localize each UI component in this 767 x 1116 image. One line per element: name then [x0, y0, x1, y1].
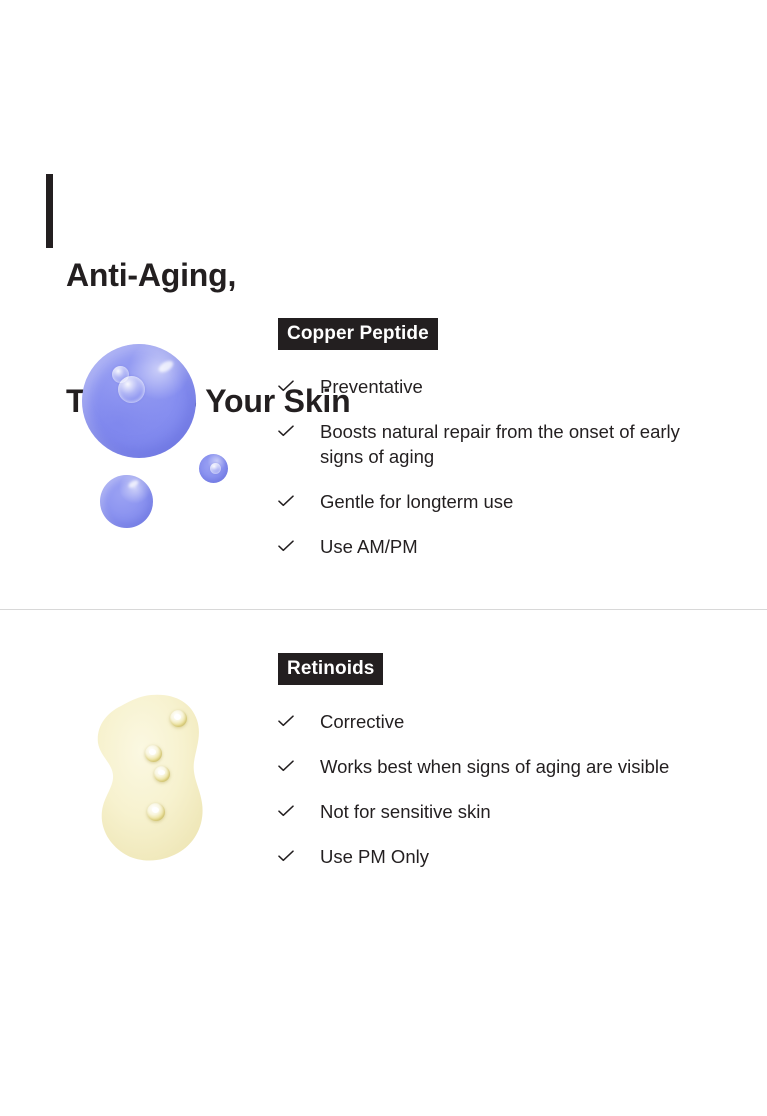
serum-bead-4 — [147, 803, 165, 821]
title-accent-bar — [46, 174, 53, 248]
list-item-label: Gentle for longterm use — [320, 489, 513, 514]
section-copper-peptide: Copper Peptide Preventative — [0, 318, 767, 600]
droplet-bubble-b — [118, 376, 145, 403]
title-line-1: Anti-Aging, — [66, 254, 350, 296]
yellow-serum-blob-icon — [90, 693, 220, 873]
check-icon — [278, 754, 294, 778]
droplet-large — [82, 344, 196, 458]
section-retinoids: Retinoids Corrective — [0, 653, 767, 935]
list-item: Gentle for longterm use — [278, 489, 708, 514]
list-item-label: Works best when signs of aging are visib… — [320, 754, 669, 779]
serum-bead-3 — [154, 766, 170, 782]
retinoids-feature-list: Corrective Works best when signs of agin… — [278, 709, 708, 869]
list-item: Use AM/PM — [278, 534, 708, 559]
list-item-label: Use AM/PM — [320, 534, 418, 559]
retinoids-content: Retinoids Corrective — [278, 653, 708, 869]
blue-gel-droplets-icon — [60, 318, 260, 568]
list-item: Corrective — [278, 709, 708, 734]
serum-bead-2 — [145, 745, 162, 762]
list-item: Boosts natural repair from the onset of … — [278, 419, 708, 469]
check-icon — [278, 709, 294, 733]
list-item: Works best when signs of aging are visib… — [278, 754, 708, 779]
check-icon — [278, 799, 294, 823]
copper-peptide-content: Copper Peptide Preventative — [278, 318, 708, 559]
list-item-label: Preventative — [320, 374, 423, 399]
copper-peptide-illustration — [60, 318, 260, 568]
section-divider — [0, 609, 767, 610]
list-item: Preventative — [278, 374, 708, 399]
list-item: Not for sensitive skin — [278, 799, 708, 824]
check-icon — [278, 374, 294, 398]
droplet-bubble-c — [210, 463, 221, 474]
check-icon — [278, 844, 294, 868]
page-root: Anti-Aging, Timed to Your Skin Copper Pe… — [0, 0, 767, 1116]
list-item-label: Use PM Only — [320, 844, 429, 869]
retinoids-illustration — [60, 653, 260, 903]
droplet-medium — [100, 475, 153, 528]
list-item-label: Not for sensitive skin — [320, 799, 491, 824]
serum-bead-1 — [170, 710, 187, 727]
badge-retinoids: Retinoids — [278, 653, 383, 685]
copper-peptide-feature-list: Preventative Boosts natural repair from … — [278, 374, 708, 559]
check-icon — [278, 534, 294, 558]
list-item: Use PM Only — [278, 844, 708, 869]
badge-copper-peptide: Copper Peptide — [278, 318, 438, 350]
check-icon — [278, 489, 294, 513]
list-item-label: Corrective — [320, 709, 404, 734]
list-item-label: Boosts natural repair from the onset of … — [320, 419, 708, 469]
check-icon — [278, 419, 294, 443]
